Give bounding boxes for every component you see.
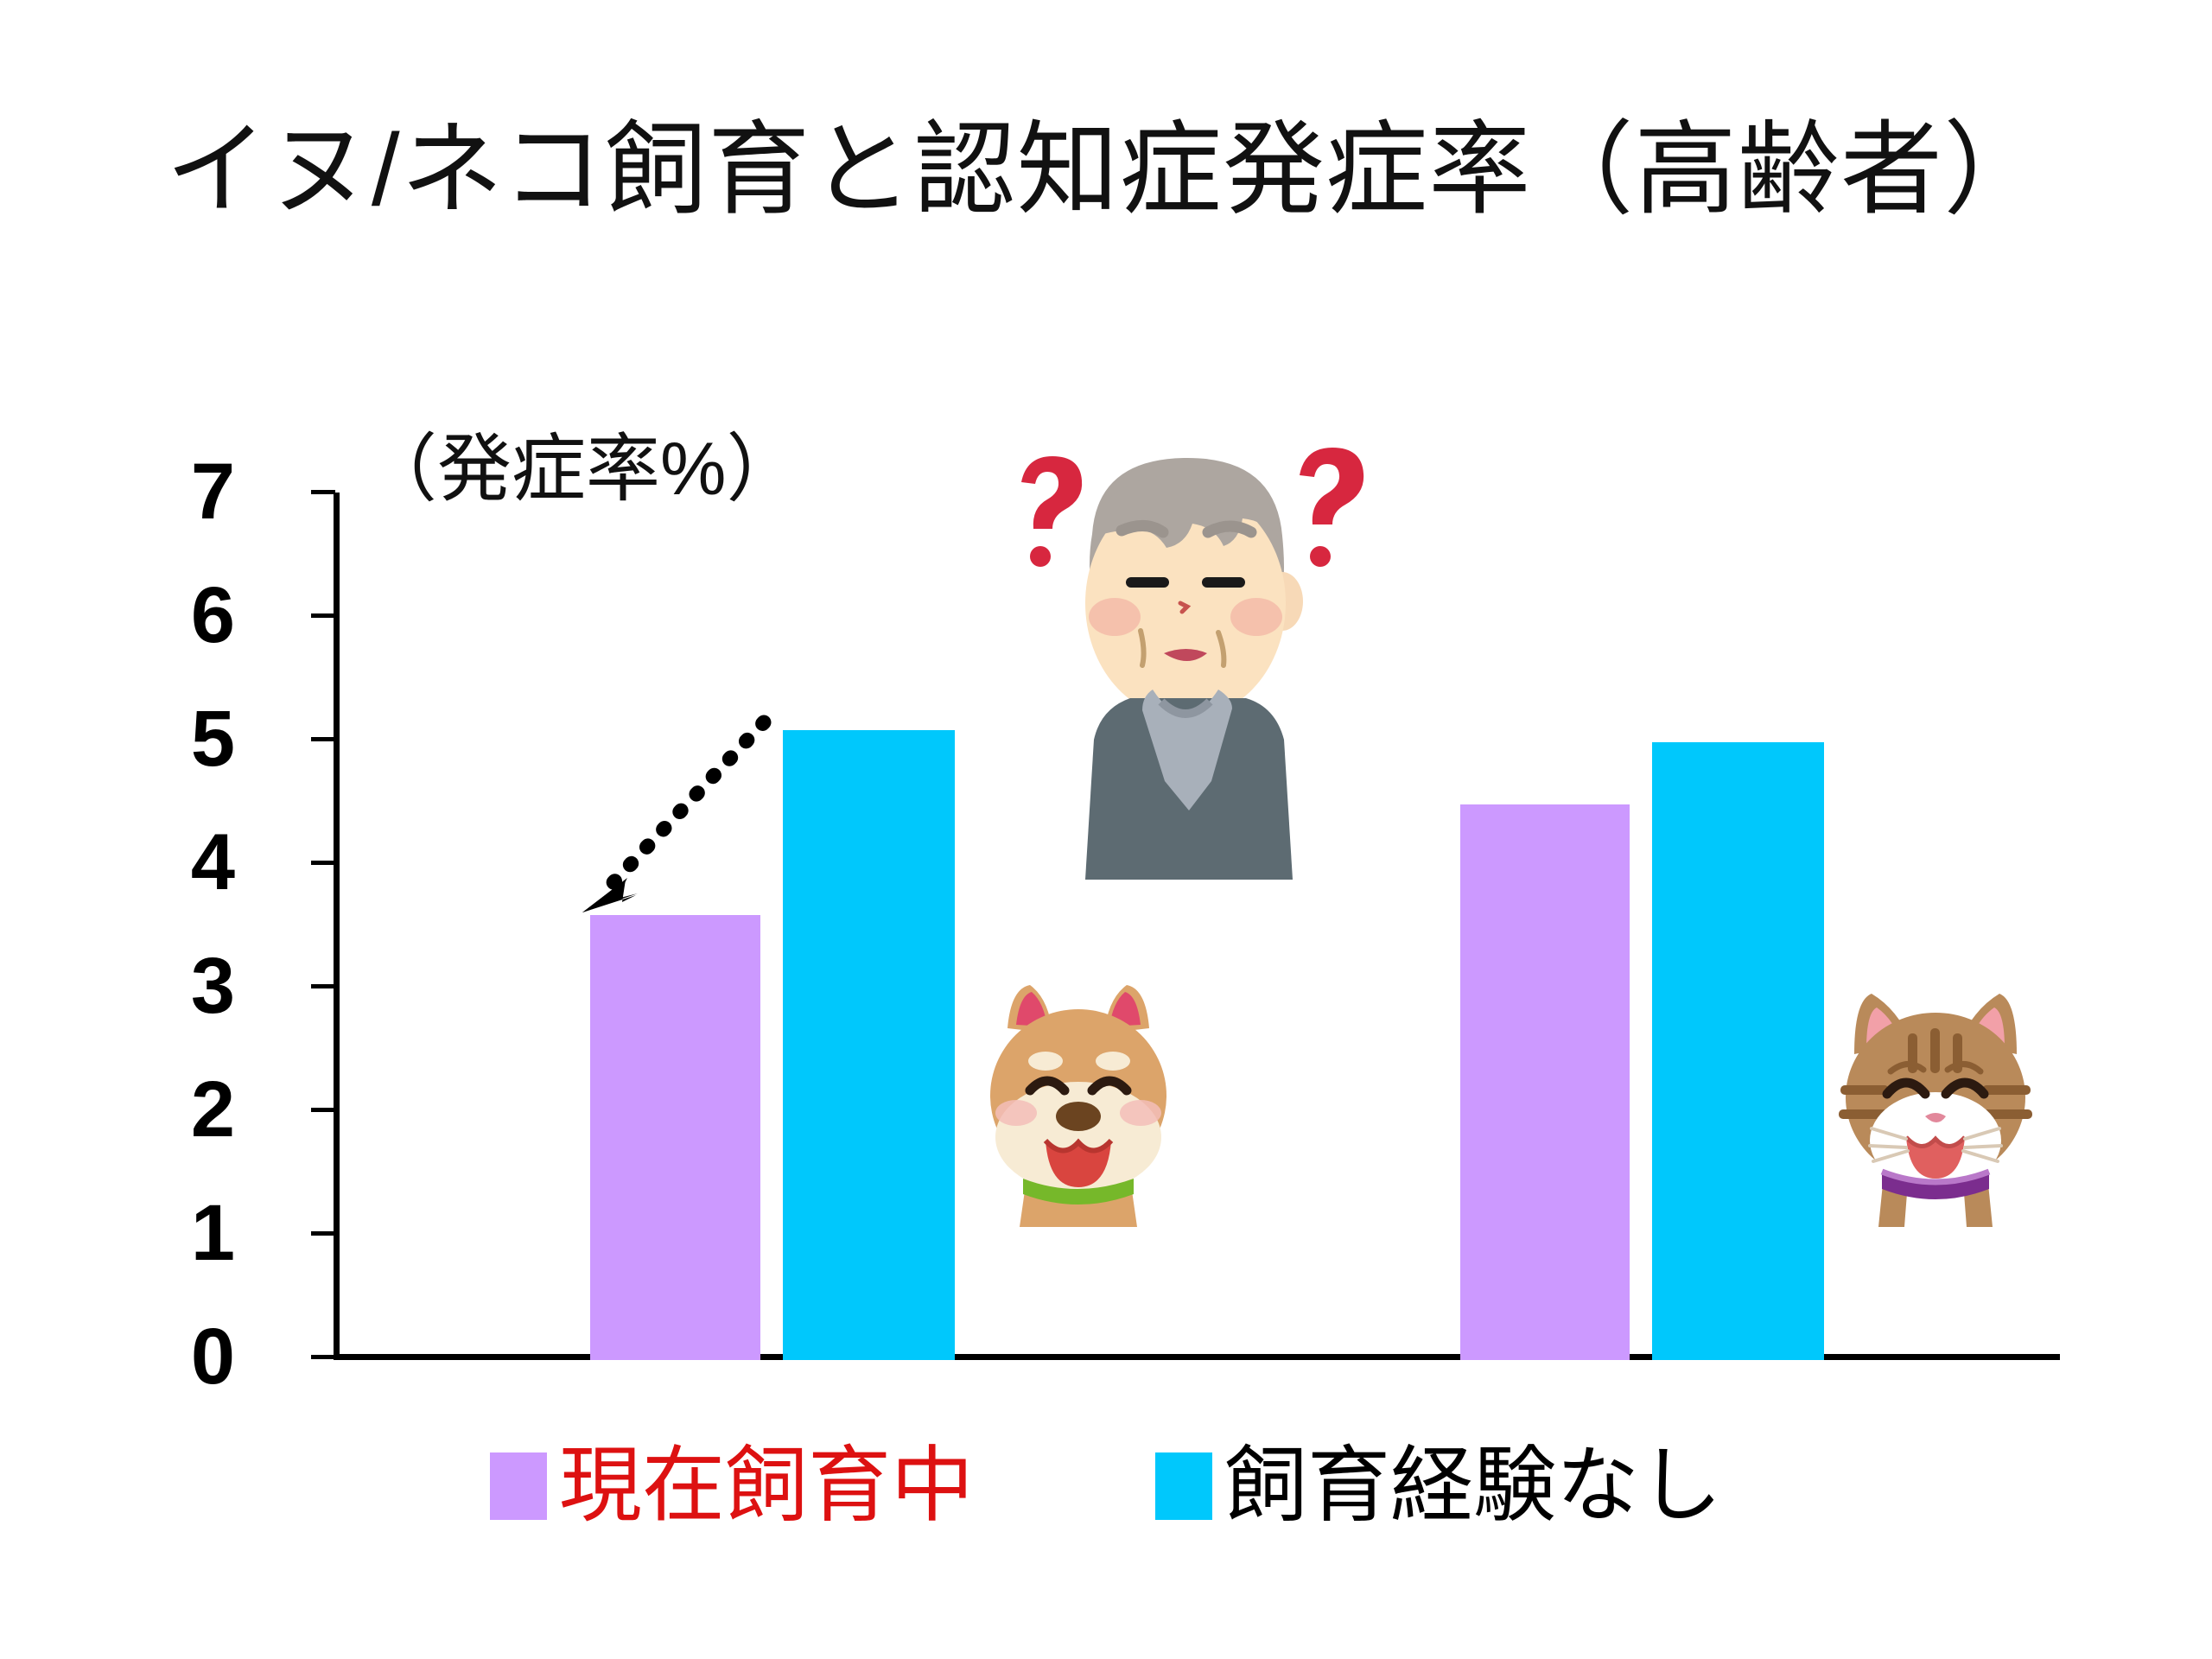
y-axis-tick-label-4: 4 (157, 823, 235, 902)
bar-ネコ-飼育経験なし[interactable] (1652, 742, 1824, 1360)
legend-item-0[interactable]: 現在飼育中 (490, 1445, 974, 1528)
bar-イヌ-飼育経験なし[interactable] (783, 730, 955, 1360)
legend-item-1[interactable]: 飼育経験なし (1155, 1445, 1722, 1528)
y-axis-tick-1 (311, 1231, 335, 1236)
y-axis-label: （発症率%） (363, 432, 800, 506)
bar-ネコ-現在飼育中[interactable] (1460, 804, 1630, 1361)
chart-plot-area: （発症率%） 76543210 (0, 0, 2212, 1659)
legend-swatch-cyan (1155, 1452, 1212, 1520)
y-axis-line (334, 493, 340, 1360)
y-axis-tick-7 (311, 490, 335, 494)
y-axis-tick-label-2: 2 (157, 1070, 235, 1149)
y-axis-tick-5 (311, 737, 335, 741)
y-axis-tick-4 (311, 861, 335, 865)
y-axis-tick-label-7: 7 (157, 452, 235, 531)
bar-イヌ-現在飼育中[interactable] (590, 915, 760, 1360)
y-axis-tick-6 (311, 613, 335, 618)
shiba-dog-illustration (978, 975, 1179, 1227)
slide-canvas: イヌ/ネコ飼育と認知症発症率（高齢者） （発症率%） 76543210 (0, 0, 2212, 1659)
legend-swatch-purple (490, 1452, 547, 1520)
tabby-cat-illustration (1834, 975, 2037, 1227)
y-axis-tick-2 (311, 1108, 335, 1112)
y-axis-tick-label-5: 5 (157, 699, 235, 779)
y-axis-tick-label-6: 6 (157, 575, 235, 655)
legend-label-0: 現在飼育中 (559, 1445, 974, 1528)
y-axis-tick-label-3: 3 (157, 946, 235, 1026)
y-axis-tick-label-0: 0 (157, 1317, 235, 1396)
y-axis-tick-3 (311, 984, 335, 988)
y-axis-tick-0 (311, 1355, 335, 1359)
annotation-arrow-icon (553, 709, 778, 925)
y-axis-tick-label-1: 1 (157, 1193, 235, 1273)
chart-legend: 現在飼育中 飼育経験なし (0, 1445, 2212, 1528)
confused-elderly-man-illustration (992, 425, 1379, 881)
legend-label-1: 飼育経験なし (1224, 1445, 1722, 1528)
